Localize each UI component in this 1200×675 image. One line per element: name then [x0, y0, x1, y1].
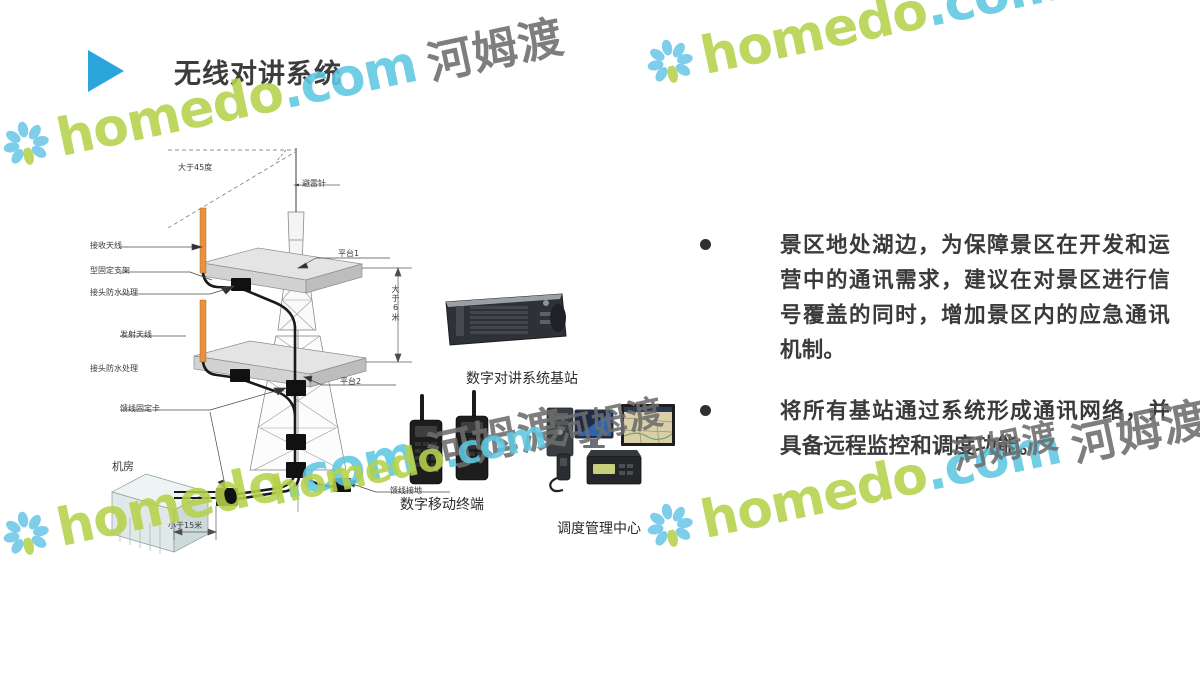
- dispatch-center-caption: 调度管理中心: [557, 518, 641, 538]
- base-station-image: [440, 288, 570, 351]
- flower-logo-icon: [643, 34, 698, 92]
- equipment-room-shape: [112, 474, 208, 554]
- diagram-label-lightning-rod: 避雷针: [302, 178, 326, 189]
- mobile-terminal-caption: 数字移动终端: [400, 494, 484, 514]
- diagram-label-angle: 大于45度: [178, 162, 212, 173]
- bullet-dot-icon: [700, 239, 711, 250]
- tx-antenna-shape: [200, 300, 206, 362]
- watermark-com-text: .com: [920, 0, 1066, 39]
- dispatch-center-image: [545, 398, 677, 496]
- diagram-label-feeder-clamp: 馈线固定卡: [120, 403, 160, 414]
- diagram-label-waterproof-bottom: 接头防水处理: [90, 363, 138, 374]
- page-title: 无线对讲系统: [88, 48, 342, 94]
- triangle-marker-icon: [88, 50, 124, 92]
- page-title-text: 无线对讲系统: [174, 52, 342, 91]
- watermark-cn-text: 河姆渡: [1064, 0, 1200, 10]
- flower-logo-icon: [0, 116, 54, 174]
- diagram-label-bracket: 型固定支架: [90, 265, 130, 276]
- watermark-cn-text: 河姆渡: [420, 0, 569, 92]
- bullet-list: 景区地处湖边，为保障景区在开发和运营中的通讯需求，建议在对景区进行信号覆盖的同时…: [700, 228, 1170, 490]
- base-station-caption: 数字对讲系统基站: [466, 368, 578, 388]
- diagram-label-waterproof-top: 接头防水处理: [90, 287, 138, 298]
- tower-diagram-svg: [90, 140, 680, 560]
- diagram-label-tx-antenna: 发射天线: [120, 329, 152, 340]
- diagram-label-ground-distance: 小于15米: [168, 520, 202, 531]
- bullet-dot-icon: [700, 405, 711, 416]
- diagram-label-rx-antenna: 接收天线: [90, 240, 122, 251]
- bullet-text: 景区地处湖边，为保障景区在开发和运营中的通讯需求，建议在对景区进行信号覆盖的同时…: [780, 228, 1170, 368]
- diagram-label-platform-2: 平台2: [340, 376, 361, 387]
- diagram-label-equipment-room: 机房: [112, 458, 134, 474]
- mobile-terminal-image: [404, 382, 496, 490]
- flower-logo-icon: [0, 506, 54, 564]
- rx-antenna-shape: [200, 208, 206, 273]
- height-dimension-lines: [362, 268, 412, 362]
- diagram-label-height-gap: 大于6米: [390, 285, 400, 322]
- watermark: homedo .com 河姆渡: [641, 0, 1200, 100]
- diagram-label-platform-1: 平台1: [338, 248, 359, 259]
- slide-canvas: 无线对讲系统 景区地处湖边，为保障景区在开发和运营中的通讯需求，建议在对景区进行…: [0, 0, 1200, 675]
- tower-diagram: 大于45度 避雷针 接收天线 型固定支架 接头防水处理 发射天线 接头防水处理 …: [90, 140, 680, 560]
- watermark-home-text: homedo: [696, 0, 933, 86]
- list-item: 景区地处湖边，为保障景区在开发和运营中的通讯需求，建议在对景区进行信号覆盖的同时…: [700, 228, 1170, 368]
- bullet-text: 将所有基站通过系统形成通讯网络，并具备远程监控和调度功能。: [780, 394, 1170, 464]
- list-item: 将所有基站通过系统形成通讯网络，并具备远程监控和调度功能。: [700, 394, 1170, 464]
